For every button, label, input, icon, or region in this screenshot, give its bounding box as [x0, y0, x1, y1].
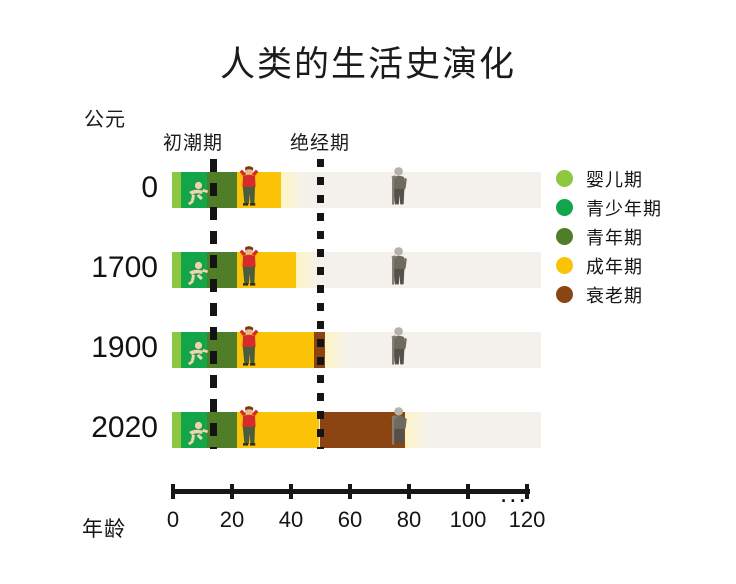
row-label-year: 0: [38, 173, 158, 203]
legend-item-adolescence: 青少年期: [556, 193, 662, 222]
x-axis-tick-label: 60: [338, 507, 362, 533]
legend-label-adulthood: 成年期: [586, 253, 643, 279]
bar-segment-infancy: [172, 332, 181, 368]
pictogram-elderly-with-cane-icon: [388, 326, 410, 371]
legend-item-youth: 青年期: [556, 222, 662, 251]
legend-item-adulthood: 成年期: [556, 251, 662, 280]
legend-swatch-infancy: [556, 170, 573, 187]
pictogram-adult-standing-icon: [238, 406, 260, 451]
row-label-year: 1700: [38, 253, 158, 283]
x-axis-tick: [525, 484, 529, 499]
legend-item-infancy: 婴儿期: [556, 164, 662, 193]
legend-label-adolescence: 青少年期: [586, 195, 662, 221]
x-axis-tick: [348, 484, 352, 499]
legend: 婴儿期 青少年期 青年期 成年期 衰老期: [556, 164, 662, 309]
pictogram-adult-standing-icon: [238, 246, 260, 291]
x-axis-tick-label: 100: [450, 507, 487, 533]
x-axis-tick: [407, 484, 411, 499]
legend-label-youth: 青年期: [586, 224, 643, 250]
legend-label-infancy: 婴儿期: [586, 166, 643, 192]
menarche-marker-line: [210, 159, 217, 449]
pictogram-child-running-icon: [183, 259, 209, 290]
x-axis-tick-label: 0: [167, 507, 179, 533]
pictogram-adult-standing-icon: [238, 326, 260, 371]
x-axis-tick: [230, 484, 234, 499]
bar-segment-fade: [325, 332, 355, 368]
legend-swatch-youth: [556, 228, 573, 245]
pictogram-adult-standing-icon: [238, 166, 260, 211]
x-axis-tick-label: 80: [397, 507, 421, 533]
legend-swatch-senescence: [556, 286, 573, 303]
bar-segment-infancy: [172, 252, 181, 288]
legend-label-senescence: 衰老期: [586, 282, 643, 308]
legend-swatch-adolescence: [556, 199, 573, 216]
bar-segment-infancy: [172, 412, 181, 448]
pictogram-elderly-with-cane-icon: [388, 246, 410, 291]
life-history-chart: 人类的生活史演化 公元 初潮期 绝经期 0170019002020: [0, 0, 736, 584]
x-axis-tick: [171, 484, 175, 499]
bar-segment-fade: [281, 172, 311, 208]
menopause-marker-line: [317, 159, 324, 449]
row-label-year: 1900: [38, 333, 158, 363]
pictogram-child-running-icon: [183, 179, 209, 210]
x-axis-tick-label: 120: [509, 507, 546, 533]
x-axis-tick-label: 40: [279, 507, 303, 533]
x-axis-tick: [466, 484, 470, 499]
legend-swatch-adulthood: [556, 257, 573, 274]
row-label-year: 2020: [38, 413, 158, 443]
legend-item-senescence: 衰老期: [556, 280, 662, 309]
x-axis-tick-label: 20: [220, 507, 244, 533]
pictogram-elderly-with-cane-icon: [388, 406, 410, 451]
pictogram-child-running-icon: [183, 339, 209, 370]
pictogram-child-running-icon: [183, 419, 209, 450]
pictogram-elderly-with-cane-icon: [388, 166, 410, 211]
x-axis-title: 年龄: [82, 513, 126, 543]
bar-segment-infancy: [172, 172, 181, 208]
x-axis-tick: [289, 484, 293, 499]
